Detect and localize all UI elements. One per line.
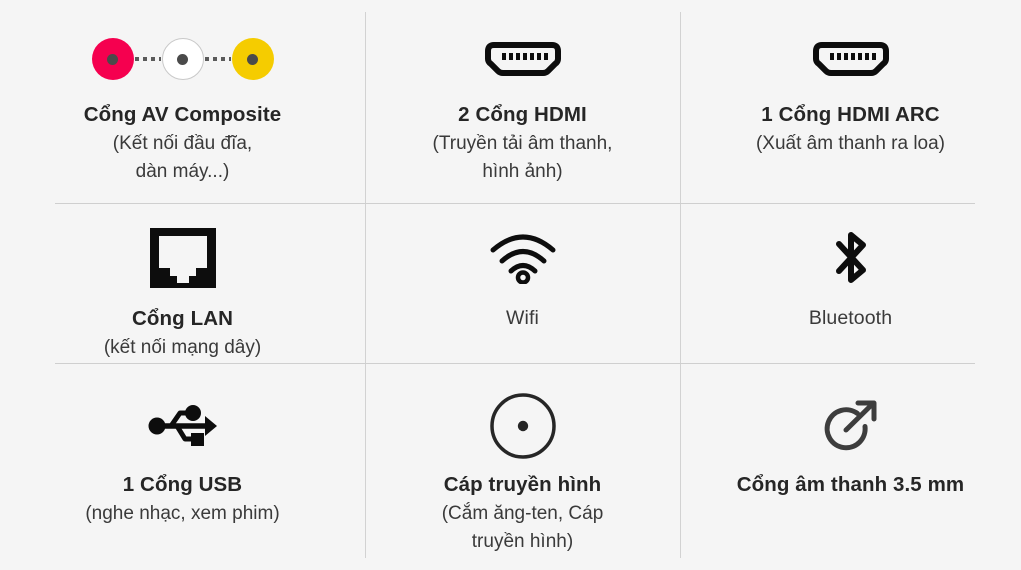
- spec-subtitle-tv-cable: (Cắm ăng-ten, Cáp truyền hình): [442, 500, 604, 556]
- spec-title-wifi: Wifi: [506, 305, 539, 332]
- audio-jack-icon: [820, 393, 882, 459]
- spec-cell-hdmi-arc: 1 Cổng HDMI ARC (Xuất âm thanh ra loa): [680, 0, 1021, 203]
- spec-title-lan: Cổng LAN: [132, 305, 233, 332]
- usb-glyph: [147, 402, 219, 450]
- coaxial-connector-icon: [488, 393, 558, 459]
- spec-row-2: Cổng LAN (kết nối mạng dây) Wifi: [0, 204, 1021, 363]
- spec-subtitle-line-1: (Kết nối đầu đĩa,: [113, 130, 252, 158]
- hdmi-port-icon: [480, 28, 566, 90]
- spec-subtitle-line-1: (Truyền tải âm thanh,: [433, 130, 613, 158]
- wifi-glyph: [487, 232, 559, 284]
- lan-port-glyph: [150, 228, 216, 288]
- spec-cell-usb: 1 Cổng USB (nghe nhạc, xem phim): [0, 364, 365, 570]
- spec-title-hdmi: 2 Cổng HDMI: [458, 101, 587, 128]
- spec-subtitle-line-1: (Cắm ăng-ten, Cáp: [442, 500, 604, 528]
- spec-subtitle-av-composite: (Kết nối đầu đĩa, dàn máy...): [113, 130, 252, 186]
- spec-cell-hdmi: 2 Cổng HDMI (Truyền tải âm thanh, hình ả…: [365, 0, 680, 203]
- coaxial-connector-glyph: [488, 391, 558, 461]
- spec-row-1: Cổng AV Composite (Kết nối đầu đĩa, dàn …: [0, 0, 1021, 203]
- hdmi-port-glyph: [480, 41, 566, 77]
- av-white-plug-icon: [162, 38, 204, 80]
- spec-cell-lan: Cổng LAN (kết nối mạng dây): [0, 204, 365, 363]
- audio-jack-glyph: [820, 395, 882, 457]
- spec-cell-bluetooth: Bluetooth: [680, 204, 1021, 363]
- av-yellow-plug-icon: [232, 38, 274, 80]
- spec-title-bluetooth: Bluetooth: [809, 305, 892, 332]
- spec-subtitle-line-2: dàn máy...): [113, 158, 252, 186]
- spec-subtitle-lan: (kết nối mạng dây): [104, 334, 261, 362]
- spec-grid: Cổng AV Composite (Kết nối đầu đĩa, dàn …: [0, 0, 1021, 570]
- usb-icon: [147, 393, 219, 459]
- bluetooth-icon: [831, 225, 871, 291]
- spec-cell-tv-cable: Cáp truyền hình (Cắm ăng-ten, Cáp truyền…: [365, 364, 680, 570]
- spec-subtitle-usb: (nghe nhạc, xem phim): [85, 500, 279, 528]
- hdmi-arc-port-icon: [808, 28, 894, 90]
- hdmi-arc-port-glyph: [808, 41, 894, 77]
- spec-cell-av-composite: Cổng AV Composite (Kết nối đầu đĩa, dàn …: [0, 0, 365, 203]
- spec-title-tv-cable: Cáp truyền hình: [444, 471, 602, 498]
- av-composite-icon: [92, 28, 274, 90]
- spec-subtitle-line-2: hình ảnh): [433, 158, 613, 186]
- bluetooth-glyph: [831, 227, 871, 289]
- spec-title-usb: 1 Cổng USB: [123, 471, 242, 498]
- lan-port-icon: [150, 225, 216, 291]
- spec-subtitle-line-1: (nghe nhạc, xem phim): [85, 500, 279, 528]
- spec-subtitle-line-1: (Xuất âm thanh ra loa): [756, 130, 945, 158]
- spec-subtitle-line-1: (kết nối mạng dây): [104, 334, 261, 362]
- av-red-plug-icon: [92, 38, 134, 80]
- spec-subtitle-hdmi-arc: (Xuất âm thanh ra loa): [756, 130, 945, 158]
- spec-row-3: 1 Cổng USB (nghe nhạc, xem phim) Cáp tru…: [0, 364, 1021, 570]
- spec-title-av-composite: Cổng AV Composite: [84, 101, 282, 128]
- spec-cell-wifi: Wifi: [365, 204, 680, 363]
- spec-subtitle-line-2: truyền hình): [442, 528, 604, 556]
- spec-cell-audio-out: Cổng âm thanh 3.5 mm: [680, 364, 1021, 570]
- av-link-dots-right: [205, 57, 231, 61]
- av-link-dots-left: [135, 57, 161, 61]
- spec-title-hdmi-arc: 1 Cổng HDMI ARC: [761, 101, 939, 128]
- spec-title-audio-out: Cổng âm thanh 3.5 mm: [737, 471, 965, 498]
- spec-subtitle-hdmi: (Truyền tải âm thanh, hình ảnh): [433, 130, 613, 186]
- wifi-icon: [487, 225, 559, 291]
